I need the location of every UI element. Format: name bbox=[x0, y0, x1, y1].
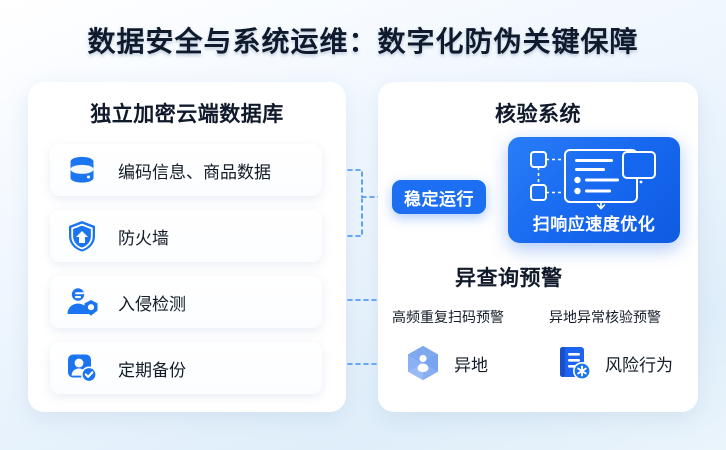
alert-section-heading: 异查询预警 bbox=[455, 262, 563, 292]
left-item-database[interactable]: 编码信息、商品数据 bbox=[50, 144, 322, 196]
right-panel-title: 核验系统 bbox=[378, 98, 698, 128]
alert-item-remote[interactable]: 异地 bbox=[402, 341, 488, 385]
alert-column-title: 高频重复扫码预警 bbox=[392, 307, 504, 327]
left-panel-title: 独立加密云端数据库 bbox=[28, 98, 346, 128]
left-item-backup[interactable]: 定期备份 bbox=[50, 342, 322, 394]
user-backup-icon bbox=[60, 346, 104, 390]
shield-icon bbox=[60, 214, 104, 258]
scan-optimization-card[interactable]: 扫响应速度优化 bbox=[508, 137, 680, 243]
left-item-intrusion[interactable]: 入侵检测 bbox=[50, 276, 322, 328]
document-alert-icon bbox=[553, 342, 595, 384]
page-title: 数据安全与系统运维：数字化防伪关键保障 bbox=[0, 20, 726, 60]
left-item-label: 编码信息、商品数据 bbox=[118, 158, 271, 183]
scan-document-icon bbox=[519, 144, 669, 215]
alert-column-title: 异地异常核验预警 bbox=[549, 307, 661, 327]
slide-root: 数据安全与系统运维：数字化防伪关键保障 独立加密云端数据库 bbox=[0, 0, 726, 450]
alert-item-label: 异地 bbox=[454, 351, 488, 376]
scan-card-label: 扫响应速度优化 bbox=[508, 210, 680, 235]
left-item-label: 定期备份 bbox=[118, 356, 186, 381]
left-item-label: 防火墙 bbox=[118, 224, 169, 249]
intrusion-detection-icon bbox=[60, 280, 104, 324]
stable-run-badge[interactable]: 稳定运行 bbox=[392, 180, 486, 214]
cube-location-icon bbox=[402, 342, 444, 384]
alert-item-label: 风险行为 bbox=[605, 351, 673, 376]
left-item-label: 入侵检测 bbox=[118, 290, 186, 315]
left-panel: 独立加密云端数据库 编码信息、商品数据 bbox=[28, 82, 346, 412]
left-item-firewall[interactable]: 防火墙 bbox=[50, 210, 322, 262]
database-icon bbox=[60, 148, 104, 192]
alert-item-risk-behavior[interactable]: 风险行为 bbox=[553, 341, 673, 385]
